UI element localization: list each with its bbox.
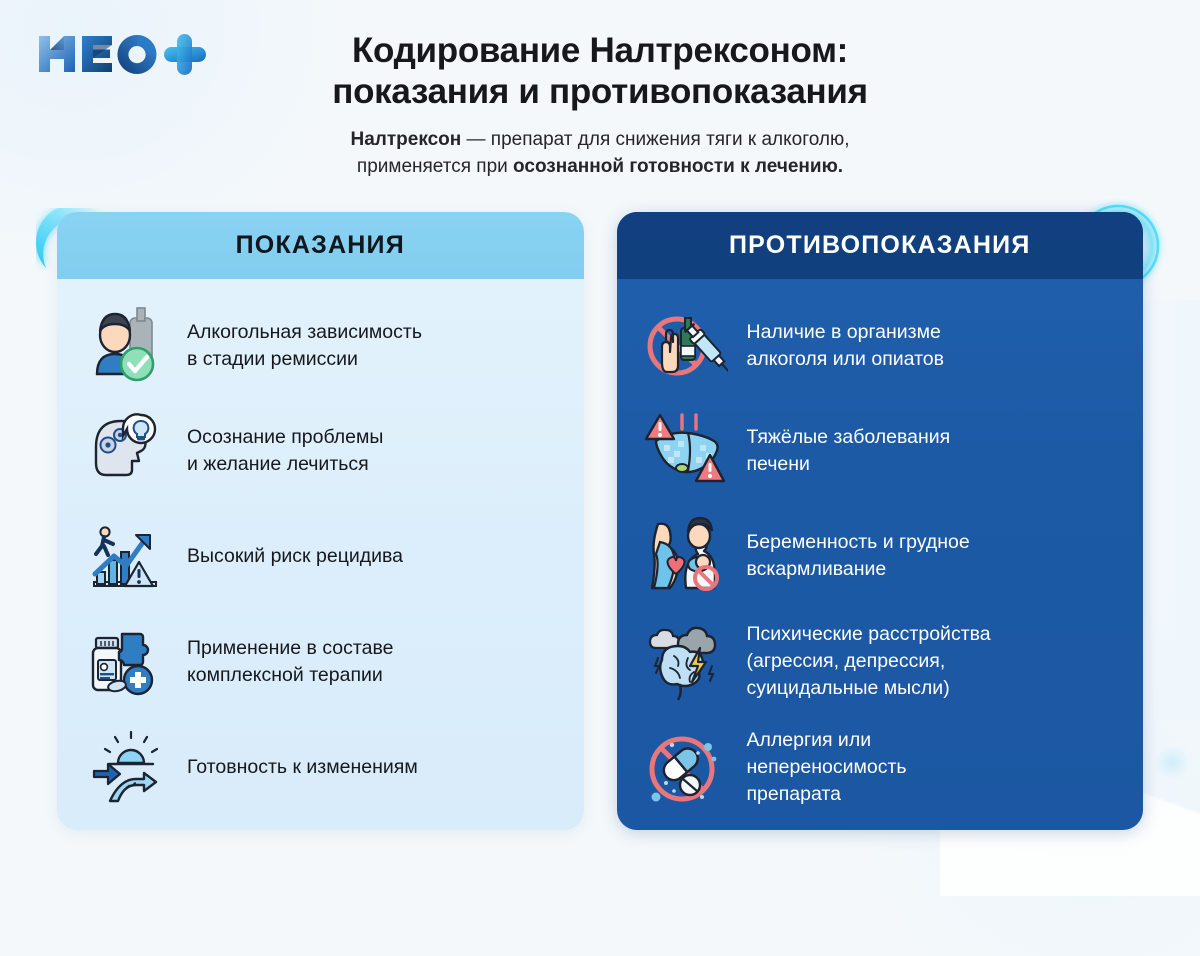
page-title-line-2: показания и противопоказания [120,71,1080,112]
subtitle-drug-name: Налтрексон [350,129,461,150]
card-contraindications-header: ПРОТИВОПОКАЗАНИЯ [617,212,1144,279]
list-item-text: Высокий риск рецидива [187,543,403,570]
list-item[interactable]: Готовность к изменениям [83,724,558,810]
brain-storm-cloud-icon [643,621,729,703]
liver-warning-icon [643,410,729,492]
card-contraindications-list: Наличие в организме алкоголя или опиатов [617,279,1144,830]
list-item-line-2: и желание лечиться [187,453,369,475]
head-gears-idea-icon [83,410,169,492]
list-item-text: Психические расстройства (агрессия, депр… [747,621,991,702]
risk-growth-chart-icon [83,515,169,597]
list-item[interactable]: Высокий риск рецидива [83,513,558,599]
list-item-line-1: Осознание проблемы [187,426,383,448]
card-indications-title: ПОКАЗАНИЯ [236,231,405,260]
list-item-text: Беременность и грудное вскармливание [747,529,970,583]
list-item-text: Осознание проблемы и желание лечиться [187,424,383,478]
list-item-line-2: алкоголя или опиатов [747,348,945,370]
list-item-text: Применение в составе комплексной терапии [187,635,393,689]
list-item-text: Готовность к изменениям [187,754,418,781]
list-item[interactable]: Наличие в организме алкоголя или опиатов [643,303,1118,389]
subtitle-text-1: — препарат для снижения тяги к алкоголю, [461,129,849,150]
card-contraindications: ПРОТИВОПОКАЗАНИЯ [617,212,1144,830]
list-item-line-2: комплексной терапии [187,664,383,686]
list-item[interactable]: Беременность и грудное вскармливание [643,513,1118,599]
list-item[interactable]: Осознание проблемы и желание лечиться [83,408,558,494]
list-item-line-1: Готовность к изменениям [187,756,418,778]
list-item[interactable]: Психические расстройства (агрессия, депр… [643,619,1118,705]
person-bottle-check-icon [83,305,169,387]
list-item-line-2: (агрессия, депрессия, [747,650,946,672]
brand-logo [35,30,210,78]
list-item-line-2: в стадии ремиссии [187,348,358,370]
list-item[interactable]: Аллергия или непереносимость препарата [643,724,1118,810]
card-indications-list: Алкогольная зависимость в стадии ремисси… [57,279,584,830]
card-indications: ПОКАЗАНИЯ Алкогольная зависимост [57,212,584,830]
card-indications-header: ПОКАЗАНИЯ [57,212,584,279]
list-item-line-1: Психические расстройства [747,623,991,645]
list-item-text: Тяжёлые заболевания печени [747,424,951,478]
list-item-line-2: вскармливание [747,558,887,580]
list-item-text: Алкогольная зависимость в стадии ремисси… [187,319,422,373]
list-item-line-2: печени [747,453,810,475]
medicine-puzzle-plus-icon [83,621,169,703]
subtitle-text-2: применяется при [357,156,513,177]
list-item[interactable]: Применение в составе комплексной терапии [83,619,558,705]
no-alcohol-syringe-icon [643,305,729,387]
cards-row: ПОКАЗАНИЯ Алкогольная зависимост [0,212,1200,830]
list-item-line-2: непереносимость [747,756,907,778]
page-title-line-1: Кодирование Налтрексоном: [120,30,1080,71]
no-pills-allergy-icon [643,726,729,808]
list-item-text: Аллергия или непереносимость препарата [747,727,907,808]
page-subtitle-line-1: Налтрексон — препарат для снижения тяги … [190,126,1010,153]
list-item-line-3: препарата [747,783,841,805]
pregnancy-breastfeeding-icon [643,515,729,597]
list-item-line-1: Высокий риск рецидива [187,545,403,567]
sunrise-road-arrow-icon [83,726,169,808]
list-item-text: Наличие в организме алкоголя или опиатов [747,319,945,373]
list-item-line-3: суицидальные мысли) [747,677,950,699]
page-subtitle-line-2: применяется при осознанной готовности к … [190,153,1010,180]
list-item-line-1: Применение в составе [187,637,393,659]
page-subtitle: Налтрексон — препарат для снижения тяги … [0,126,1200,180]
list-item[interactable]: Тяжёлые заболевания печени [643,408,1118,494]
page-header: Кодирование Налтрексоном: показания и пр… [0,0,1200,212]
subtitle-emphasis: осознанной готовности к лечению. [513,156,843,177]
list-item[interactable]: Алкогольная зависимость в стадии ремисси… [83,303,558,389]
list-item-line-1: Беременность и грудное [747,531,970,553]
list-item-line-1: Наличие в организме [747,321,941,343]
list-item-line-1: Тяжёлые заболевания [747,426,951,448]
list-item-line-1: Алкогольная зависимость [187,321,422,343]
list-item-line-1: Аллергия или [747,729,872,751]
card-contraindications-title: ПРОТИВОПОКАЗАНИЯ [729,231,1031,260]
